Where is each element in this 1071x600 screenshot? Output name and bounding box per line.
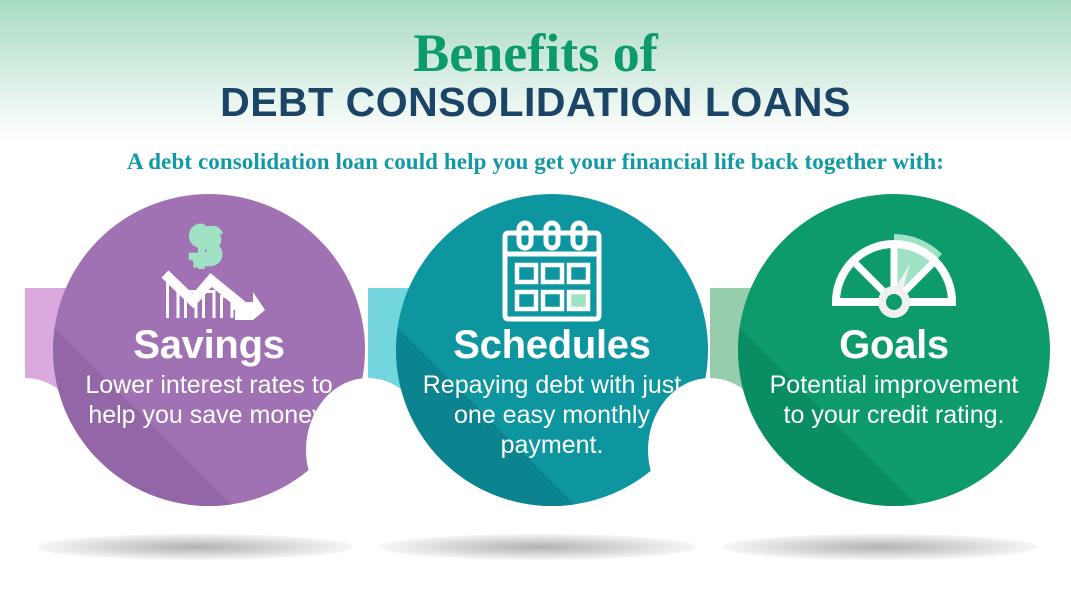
card-drop-shadow [37,534,353,560]
calendar-icon [396,220,708,324]
benefit-card-savings[interactable]: Savings Lower interest rates to help you… [25,194,365,574]
card-text-block: Goals Potential improvement to your cred… [738,322,1050,430]
benefit-card-list: Savings Lower interest rates to help you… [0,0,1071,600]
card-heading: Goals [738,322,1050,368]
card-body: Potential improvement to your credit rat… [738,370,1050,430]
infographic-root: Benefits of DEBT CONSOLIDATION LOANS A d… [0,0,1071,600]
card-drop-shadow [722,534,1038,560]
card-heading: Savings [53,322,365,368]
card-heading: Schedules [396,322,708,368]
benefit-card-schedules[interactable]: Schedules Repaying debt with just one ea… [368,194,708,574]
gauge-meter-icon [738,220,1050,324]
declining-bar-chart-dollar-icon [53,220,365,324]
benefit-card-goals[interactable]: Goals Potential improvement to your cred… [710,194,1050,574]
card-drop-shadow [380,534,696,560]
